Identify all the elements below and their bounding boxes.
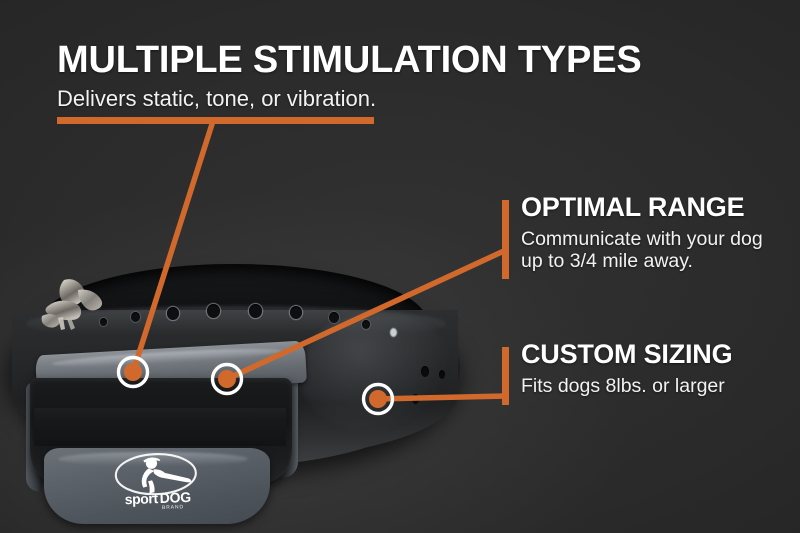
callout-heading: OPTIMAL RANGE	[521, 194, 763, 221]
sportdog-logo-icon: sport DOG BRAND	[107, 446, 213, 512]
strap-hole	[290, 306, 302, 319]
callout-optimal-range: OPTIMAL RANGE Communicate with your dog …	[521, 194, 763, 272]
callout-body-line: Delivers static, tone, or vibration.	[57, 86, 642, 111]
receiver-body-groove	[34, 408, 286, 446]
callout-heading: MULTIPLE STIMULATION TYPES	[57, 41, 642, 79]
callout-body-line: Fits dogs 8lbs. or larger	[521, 375, 732, 397]
strap-hole	[439, 370, 445, 379]
strap-buckle-icon	[34, 276, 114, 342]
strap-hole	[412, 394, 419, 404]
strap-hole	[421, 366, 429, 377]
strap-hole	[131, 312, 140, 322]
strap-hole	[329, 312, 339, 323]
callout-custom-sizing: CUSTOM SIZING Fits dogs 8lbs. or larger	[521, 341, 732, 397]
svg-text:sport: sport	[124, 490, 158, 507]
strap-hole	[167, 307, 179, 320]
strap-hole	[207, 304, 220, 318]
strap-hole	[362, 320, 370, 329]
strap-hole-highlight	[390, 328, 397, 337]
strap-hole	[249, 304, 262, 318]
callout-body-line: Communicate with your dog	[521, 228, 763, 250]
callout-heading: CUSTOM SIZING	[521, 341, 732, 368]
callout-multiple-stimulation-types: MULTIPLE STIMULATION TYPES Delivers stat…	[57, 41, 642, 111]
callout-body-line: up to 3/4 mile away.	[521, 250, 763, 272]
infographic-canvas: sport DOG BRAND MULTIPLE STIMULATION TY	[0, 0, 800, 533]
